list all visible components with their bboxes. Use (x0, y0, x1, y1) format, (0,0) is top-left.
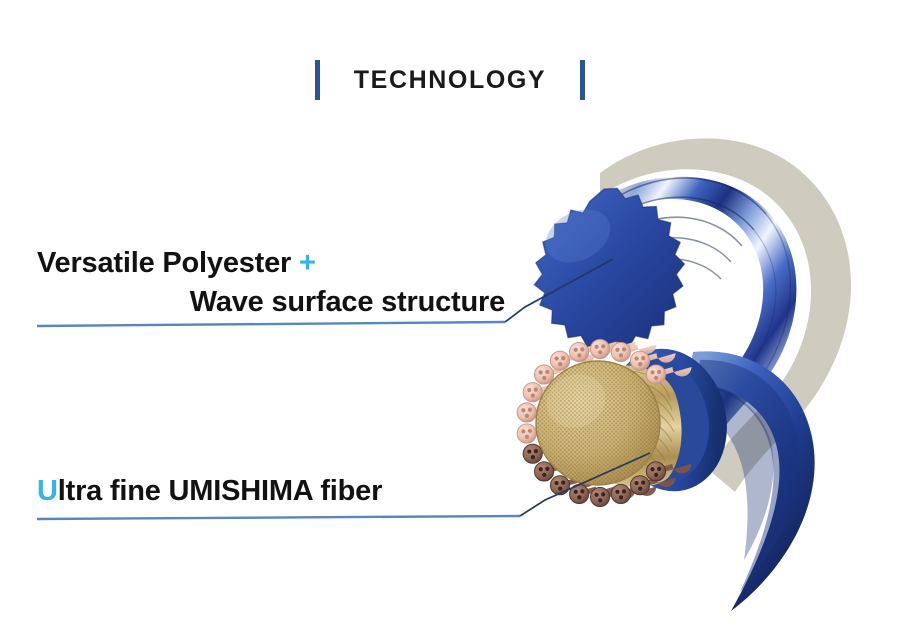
tube-lumen (615, 490, 619, 494)
tube-lumen (554, 356, 558, 360)
callout-umishima-fiber: Ultra fine UMISHIMA fiber (37, 472, 505, 511)
tube-lumen (580, 489, 584, 493)
tube-lumen (545, 370, 549, 374)
tube-face (550, 351, 569, 370)
tube-lumen (527, 388, 531, 392)
tube-lumen (561, 481, 565, 485)
tube-face (590, 487, 609, 506)
tube-lumen (577, 495, 581, 499)
callout-wave-plus-icon: + (299, 247, 316, 279)
callout-wave-line2: Wave surface structure (37, 283, 505, 322)
tube-lumen (635, 481, 639, 485)
tube-lumen (638, 362, 642, 366)
technology-infographic: TECHNOLOGY (0, 0, 900, 629)
tube-lumen (650, 370, 654, 374)
tube-lumen (657, 467, 661, 471)
callout-fiber-initial: U (37, 475, 58, 507)
callout-wave-line1: Versatile Polyester + (37, 244, 505, 283)
tube-face (611, 484, 630, 503)
callout-wave-surface: Versatile Polyester + Wave surface struc… (37, 244, 505, 322)
tube-lumen (539, 370, 543, 374)
tube-lumen (641, 356, 645, 360)
tube-lumen (595, 345, 599, 349)
tube-lumen (531, 394, 535, 398)
tube-lumen (531, 455, 535, 459)
callout-fiber-line1: Ultra fine UMISHIMA fiber (37, 472, 505, 511)
tube-lumen (574, 490, 578, 494)
tube-face (534, 365, 553, 384)
leader-underline-wave (37, 322, 505, 326)
tube-face (630, 476, 649, 495)
wave-fiber-cross-section-face (534, 188, 684, 351)
tube-lumen (595, 493, 599, 497)
tube-lumen (525, 414, 529, 418)
tube-lumen (542, 473, 546, 477)
tube-face (646, 365, 665, 384)
tube-lumen (657, 370, 661, 374)
tube-lumen (545, 467, 549, 471)
tube-lumen (521, 408, 525, 412)
tube-lumen (528, 408, 532, 412)
tube-face (517, 424, 536, 443)
umishima-fiber-group (517, 336, 814, 611)
tube-lumen (654, 473, 658, 477)
tube-lumen (635, 356, 639, 360)
tube-lumen (598, 350, 602, 354)
tube-lumen (534, 388, 538, 392)
tube-face (630, 351, 649, 370)
tube-lumen (539, 467, 543, 471)
tube-lumen (601, 492, 605, 496)
tube-lumen (558, 487, 562, 491)
tube-lumen (534, 449, 538, 453)
tube-lumen (638, 487, 642, 491)
callout-wave-line1-text: Versatile Polyester (37, 247, 299, 279)
tube-lumen (521, 429, 525, 433)
tube-lumen (580, 347, 584, 351)
tube-lumen (622, 347, 626, 351)
tube-lumen (528, 429, 532, 433)
tube-face (523, 444, 542, 463)
tube-face (570, 342, 589, 361)
tube-lumen (641, 481, 645, 485)
callout-fiber-line1-text: ltra fine UMISHIMA fiber (58, 475, 382, 507)
tube-face (590, 339, 609, 358)
tube-lumen (561, 356, 565, 360)
tube-lumen (654, 376, 658, 380)
tube-face (534, 462, 553, 481)
tube-face (611, 342, 630, 361)
tube-face (517, 403, 536, 422)
leader-underline-fiber (37, 516, 520, 519)
tube-lumen (542, 376, 546, 380)
tube-face (550, 476, 569, 495)
tube-lumen (527, 449, 531, 453)
tube-face (523, 383, 542, 402)
tube-lumen (554, 481, 558, 485)
tube-lumen (525, 435, 529, 439)
tube-lumen (574, 348, 578, 352)
tube-face (646, 462, 665, 481)
tube-lumen (601, 344, 605, 348)
tube-lumen (615, 348, 619, 352)
tube-lumen (619, 353, 623, 357)
tube-lumen (577, 353, 581, 357)
tube-lumen (650, 467, 654, 471)
tube-lumen (558, 362, 562, 366)
tube-lumen (619, 495, 623, 499)
tube-lumen (598, 498, 602, 502)
tube-lumen (622, 489, 626, 493)
